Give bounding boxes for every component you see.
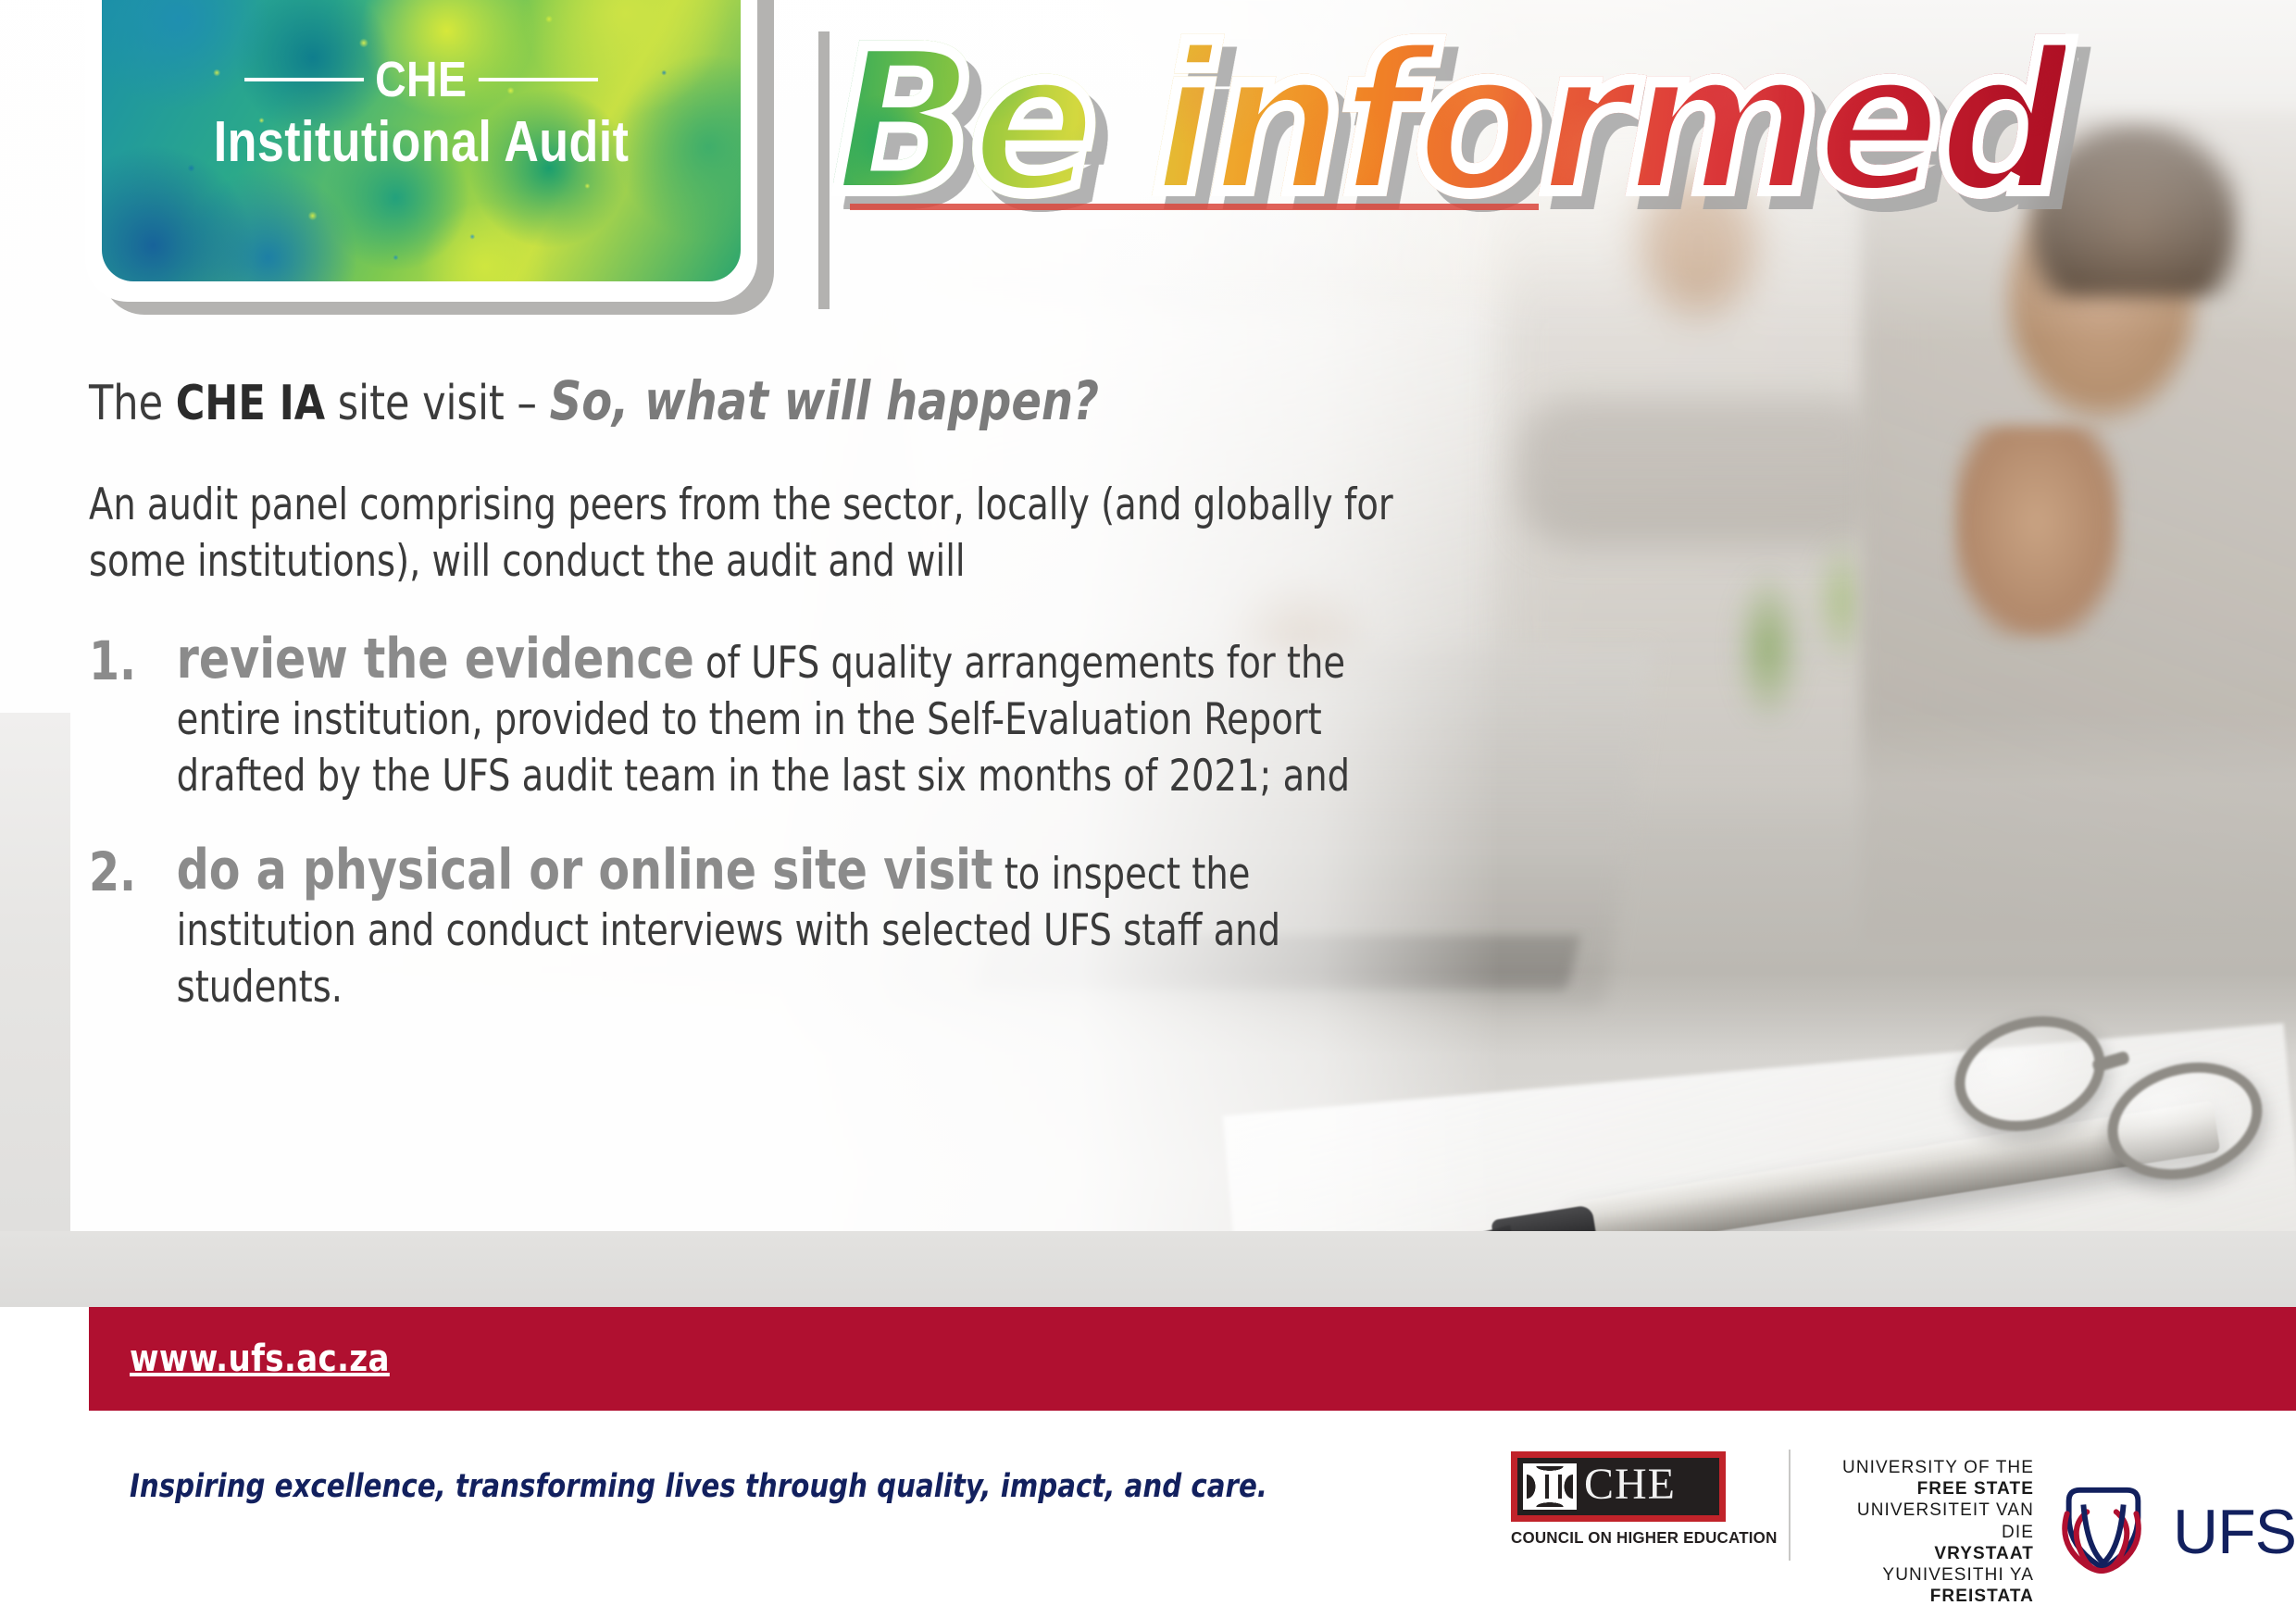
- badge-line-1: CHE: [244, 55, 597, 105]
- list-item-lead: do a physical or online site visit: [177, 838, 993, 902]
- intro-paragraph: An audit panel comprising peers from the…: [89, 477, 1404, 590]
- numbered-list: 1.review the evidence of UFS quality arr…: [89, 630, 1413, 1016]
- subheading-mid: site visit –: [325, 376, 550, 431]
- list-item-number: 2.: [89, 838, 136, 907]
- che-logo-inner: CHE: [1517, 1458, 1719, 1515]
- ufs-logo: UNIVERSITY OF THE FREE STATE UNIVERSITEI…: [1829, 1457, 2296, 1607]
- badge-text-group: CHE Institutional Audit: [102, 0, 741, 281]
- headline-group: Be informed: [833, 22, 1944, 300]
- badge-rule-right: [479, 78, 598, 81]
- badge-vertical-divider: [818, 31, 830, 309]
- subheading-prefix: The: [89, 376, 176, 431]
- footer: Inspiring excellence, transforming lives…: [0, 1411, 2296, 1618]
- poster-canvas: CHE Institutional Audit Be informed The …: [0, 0, 2296, 1618]
- ufs-name-line: FREE STATE: [1829, 1478, 2034, 1500]
- badge-line-2: Institutional Audit: [214, 112, 630, 172]
- eyeglasses-lens-left: [1941, 1000, 2119, 1149]
- che-logo-box: CHE: [1511, 1451, 1726, 1522]
- list-item: 1.review the evidence of UFS quality arr…: [89, 630, 1404, 804]
- badge-rule-left: [244, 78, 364, 81]
- list-item: 2.do a physical or online site visit to …: [89, 841, 1404, 1015]
- blurred-person-right-hand: [1953, 426, 2120, 639]
- ufs-name-line: UNIVERSITY OF THE: [1829, 1457, 2034, 1478]
- eyeglasses-lens-right: [2093, 1045, 2276, 1197]
- website-link[interactable]: www.ufs.ac.za: [130, 1338, 390, 1380]
- headline-underline: [850, 204, 1539, 210]
- footer-divider: [1789, 1450, 1791, 1561]
- grey-strip: [0, 1231, 2296, 1307]
- list-item-lead: review the evidence: [177, 627, 694, 691]
- ufs-wordmark: UFS: [2173, 1500, 2296, 1563]
- badge-che-label: CHE: [375, 55, 467, 105]
- designer-credit: ANDREAS VILJOEN DESIGN | 082 7711 637: [0, 1603, 7, 1618]
- che-logo: CHE COUNCIL ON HIGHER EDUCATION: [1511, 1451, 1744, 1548]
- tagline: Inspiring excellence, transforming lives…: [130, 1468, 1267, 1505]
- main-content: The CHE IA site visit – So, what will ha…: [89, 368, 1413, 1053]
- headline-be-informed: Be informed: [833, 22, 2065, 221]
- subheading-question: So, what will happen?: [550, 369, 1099, 432]
- che-institutional-audit-badge: CHE Institutional Audit: [85, 0, 789, 317]
- ufs-shield-icon: [2049, 1477, 2158, 1587]
- che-wordmark: CHE: [1584, 1462, 1676, 1507]
- che-emblem-icon: [1523, 1463, 1577, 1510]
- left-grey-rail: [0, 713, 70, 1307]
- subheading-bold: CHE IA: [176, 376, 325, 431]
- subheading: The CHE IA site visit – So, what will ha…: [89, 368, 1307, 434]
- che-logo-subtitle: COUNCIL ON HIGHER EDUCATION: [1511, 1528, 1737, 1548]
- url-bar: www.ufs.ac.za: [89, 1307, 2296, 1411]
- list-item-number: 1.: [89, 627, 136, 696]
- ufs-name-line: UNIVERSITEIT VAN DIE: [1829, 1500, 2034, 1542]
- eyeglasses: [1944, 981, 2277, 1222]
- ufs-multilingual-names: UNIVERSITY OF THE FREE STATE UNIVERSITEI…: [1829, 1457, 2034, 1607]
- ufs-name-line: YUNIVESITHI YA: [1829, 1564, 2034, 1586]
- ufs-name-line: VRYSTAAT: [1829, 1543, 2034, 1564]
- ufs-name-line: FREISTATA: [1829, 1586, 2034, 1607]
